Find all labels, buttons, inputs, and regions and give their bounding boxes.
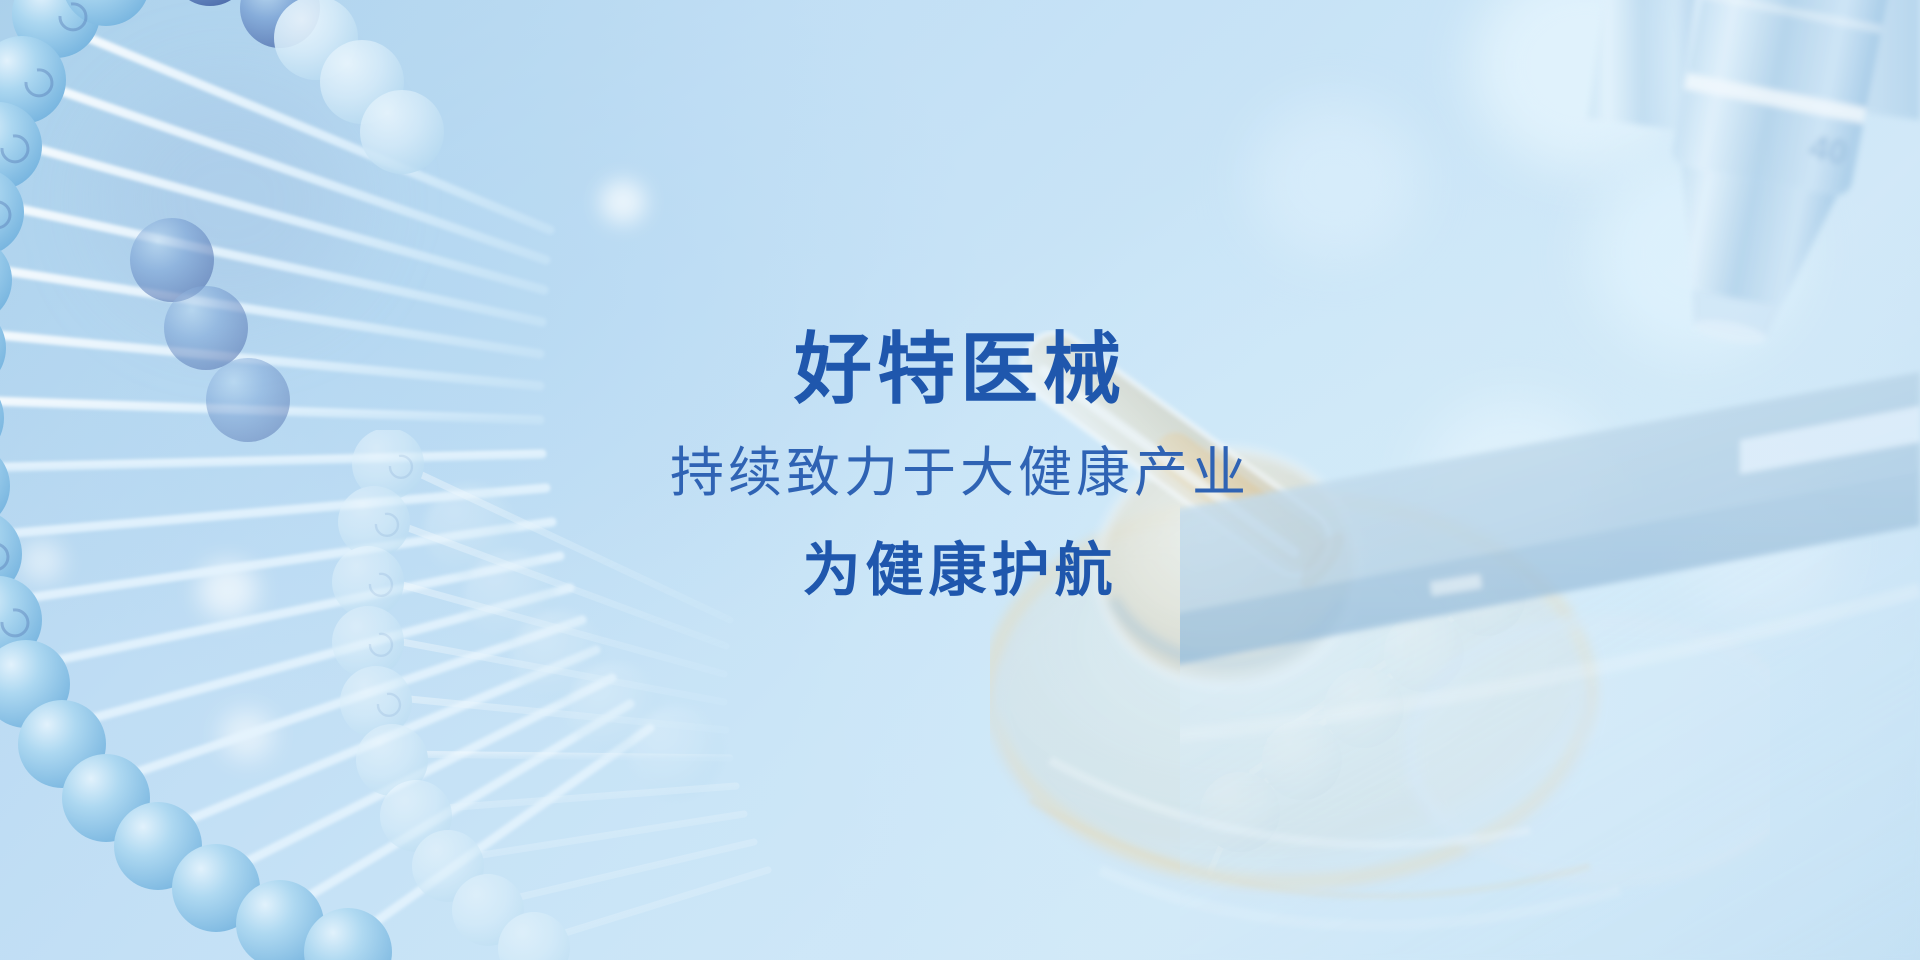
bokeh-blob: [220, 710, 274, 760]
bokeh-blob: [600, 180, 646, 224]
bokeh-blob: [1470, 0, 1700, 170]
bokeh-blob: [100, 80, 360, 320]
dna-helix-illustration-faint: [1020, 560, 1580, 960]
bokeh-blob: [1590, 150, 1800, 355]
microscope-magnification-label: 40: [1806, 128, 1850, 173]
hero-copy: 好特医械 持续致力于大健康产业 为健康护航: [0, 330, 1920, 600]
hero-subtitle: 持续致力于大健康产业: [0, 446, 1920, 500]
page-title: 好特医械: [0, 330, 1920, 408]
bokeh-blob: [1250, 100, 1420, 260]
hero-tagline: 为健康护航: [0, 542, 1920, 600]
hero-banner: 40: [0, 0, 1920, 960]
